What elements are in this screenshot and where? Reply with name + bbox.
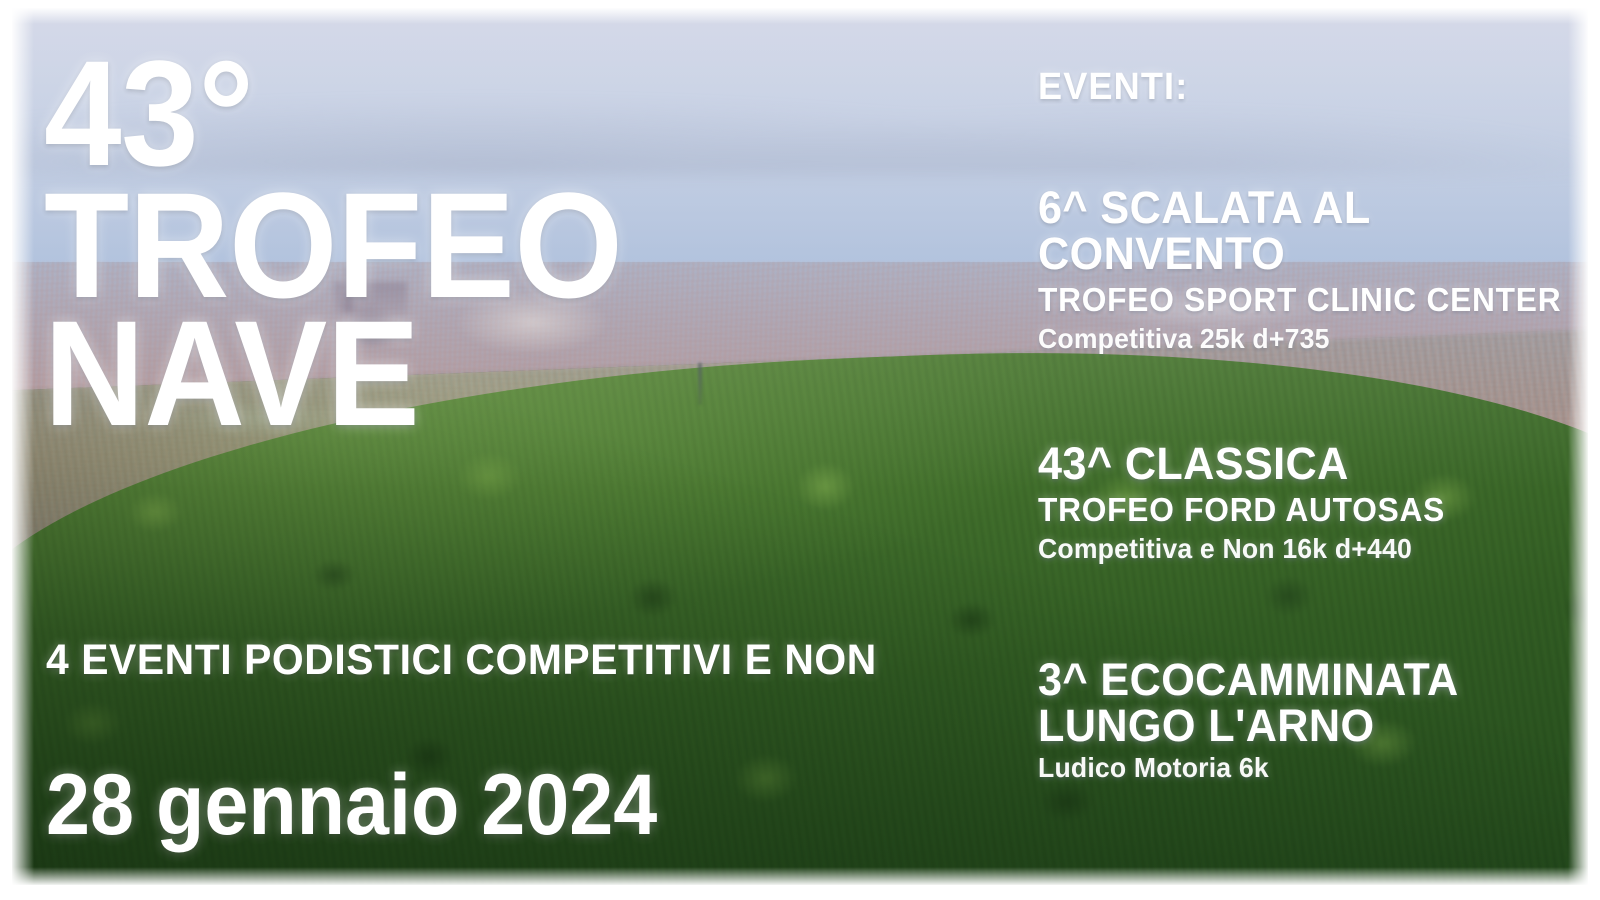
event-detail: Ludico Motoria 6k: [1038, 752, 1551, 784]
event-title: 6^ SCALATA AL CONVENTO: [1038, 185, 1556, 277]
event-title: 43^ CLASSICA: [1038, 441, 1556, 487]
event-detail: Competitiva e Non 16k d+440: [1038, 533, 1551, 565]
event-date: 28 gennaio 2024: [46, 756, 657, 855]
event-title: 3^ ECOCAMMINATA LUNGO L'ARNO: [1038, 657, 1556, 749]
text-overlay: 43° TROFEO NAVE 4 EVENTI PODISTICI COMPE…: [0, 0, 1600, 900]
event-sponsor: TROFEO FORD AUTOSAS: [1038, 491, 1556, 529]
event-item-scalata-al-convento: 6^ SCALATA AL CONVENTO TROFEO SPORT CLIN…: [1038, 185, 1578, 355]
event-sponsor: TROFEO SPORT CLINIC CENTER: [1038, 281, 1556, 319]
events-heading: EVENTI:: [1038, 66, 1551, 109]
poster-subtitle: 4 EVENTI PODISTICI COMPETITIVI E NON: [46, 636, 877, 685]
headline-block: 43° TROFEO NAVE: [44, 44, 944, 442]
event-item-classica: 43^ CLASSICA TROFEO FORD AUTOSAS Competi…: [1038, 441, 1578, 565]
event-item-ecocamminata: 3^ ECOCAMMINATA LUNGO L'ARNO Ludico Moto…: [1038, 657, 1578, 785]
events-panel: EVENTI: 6^ SCALATA AL CONVENTO TROFEO SP…: [1038, 66, 1578, 784]
title-word-nave: NAVE: [44, 304, 881, 442]
event-detail: Competitiva 25k d+735: [1038, 323, 1551, 355]
event-poster: 43° TROFEO NAVE 4 EVENTI PODISTICI COMPE…: [0, 0, 1600, 900]
